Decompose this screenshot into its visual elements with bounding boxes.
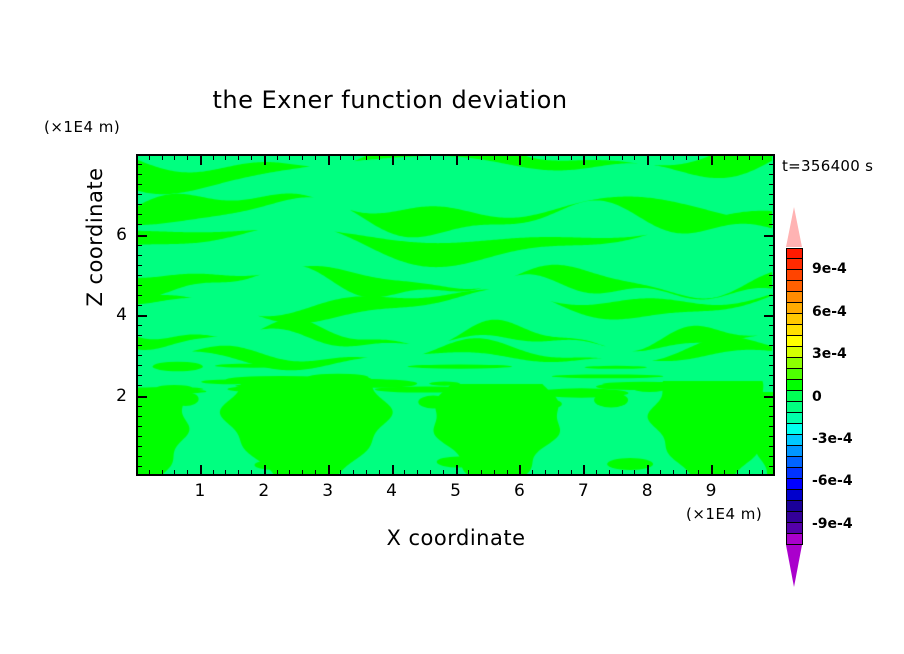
x-tick-minor-bottom [507, 470, 508, 476]
x-tick-minor-bottom [187, 470, 188, 476]
x-tick-minor [596, 154, 597, 160]
x-tick-minor [340, 154, 341, 160]
y-tick-minor [136, 265, 142, 266]
y-tick-minor-right [769, 345, 775, 346]
y-tick-minor [136, 245, 142, 246]
x-tick-minor [353, 154, 354, 160]
y-tick-minor [136, 355, 142, 356]
y-tick-minor [136, 345, 142, 346]
x-tick-major [519, 154, 521, 165]
x-tick-major [583, 154, 585, 165]
x-tick-major-bottom [328, 465, 330, 476]
y-tick-minor [136, 436, 142, 437]
colorbar-band [786, 501, 803, 512]
x-axis-unit-label: (×1E4 m) [686, 505, 762, 523]
colorbar-band [786, 303, 803, 314]
colorbar-band [786, 314, 803, 325]
colorbar-label: -6e-4 [812, 473, 853, 489]
x-axis-title: X coordinate [136, 526, 776, 550]
y-tick-minor-right [769, 245, 775, 246]
x-tick-minor [174, 154, 175, 160]
colorbar-label: 9e-4 [812, 261, 847, 277]
x-tick-label: 9 [699, 481, 723, 501]
x-tick-label: 8 [635, 481, 659, 501]
x-tick-minor [417, 154, 418, 160]
y-tick-major-right [764, 396, 775, 398]
x-tick-major [711, 154, 713, 165]
y-tick-minor-right [769, 265, 775, 266]
x-tick-major-bottom [711, 465, 713, 476]
x-tick-minor-bottom [213, 470, 214, 476]
x-tick-minor-bottom [174, 470, 175, 476]
colorbar-band [786, 523, 803, 534]
y-tick-minor [136, 305, 142, 306]
y-tick-minor-right [769, 365, 775, 366]
y-tick-minor-right [769, 375, 775, 376]
y-tick-minor [136, 275, 142, 276]
x-tick-minor-bottom [277, 470, 278, 476]
y-tick-minor-right [769, 194, 775, 195]
x-tick-major-bottom [392, 465, 394, 476]
x-tick-minor-bottom [724, 470, 725, 476]
x-tick-minor [251, 154, 252, 160]
colorbar-band [786, 402, 803, 413]
x-tick-minor-bottom [634, 470, 635, 476]
x-tick-minor-bottom [340, 470, 341, 476]
x-tick-minor-bottom [762, 470, 763, 476]
y-tick-minor-right [769, 275, 775, 276]
x-tick-minor [315, 154, 316, 160]
y-tick-minor [136, 426, 142, 427]
y-tick-minor [136, 365, 142, 366]
x-tick-minor [187, 154, 188, 160]
x-tick-minor-bottom [302, 470, 303, 476]
x-tick-minor-bottom [149, 470, 150, 476]
y-tick-minor-right [769, 305, 775, 306]
x-tick-major-bottom [519, 465, 521, 476]
y-tick-major-right [764, 235, 775, 237]
x-tick-minor-bottom [545, 470, 546, 476]
y-tick-minor-right [769, 385, 775, 386]
colorbar-band [786, 325, 803, 336]
x-tick-minor-bottom [686, 470, 687, 476]
colorbar-band [786, 281, 803, 292]
y-tick-label: 2 [103, 386, 127, 406]
x-tick-label: 7 [571, 481, 595, 501]
x-tick-minor-bottom [532, 470, 533, 476]
y-tick-minor [136, 325, 142, 326]
x-tick-minor [609, 154, 610, 160]
x-tick-minor-bottom [622, 470, 623, 476]
y-tick-major [136, 396, 147, 398]
timestamp-annotation: t=356400 s [782, 157, 873, 175]
y-tick-minor-right [769, 184, 775, 185]
y-tick-minor-right [769, 174, 775, 175]
x-tick-minor-bottom [481, 470, 482, 476]
y-tick-minor [136, 204, 142, 205]
x-tick-minor-bottom [737, 470, 738, 476]
x-tick-minor-bottom [366, 470, 367, 476]
x-tick-minor-bottom [596, 470, 597, 476]
x-tick-major-bottom [647, 465, 649, 476]
x-tick-minor [494, 154, 495, 160]
x-tick-major [200, 154, 202, 165]
x-tick-major [392, 154, 394, 165]
colorbar-band [786, 270, 803, 281]
contour-field [138, 156, 773, 474]
y-tick-minor-right [769, 456, 775, 457]
x-tick-minor-bottom [660, 470, 661, 476]
colorbar-label: 6e-4 [812, 304, 847, 320]
x-tick-minor-bottom [225, 470, 226, 476]
x-tick-minor [213, 154, 214, 160]
x-tick-minor-bottom [315, 470, 316, 476]
y-tick-major-right [764, 315, 775, 317]
colorbar-label: 3e-4 [812, 346, 847, 362]
x-tick-minor [532, 154, 533, 160]
x-tick-label: 3 [316, 481, 340, 501]
y-tick-minor [136, 375, 142, 376]
x-tick-label: 1 [188, 481, 212, 501]
x-tick-minor-bottom [238, 470, 239, 476]
y-tick-minor [136, 194, 142, 195]
x-tick-label: 2 [252, 481, 276, 501]
colorbar-band [786, 457, 803, 468]
colorbar-band [786, 391, 803, 402]
x-tick-label: 6 [507, 481, 531, 501]
x-tick-minor [686, 154, 687, 160]
colorbar-band [786, 292, 803, 303]
colorbar-band [786, 468, 803, 479]
colorbar [786, 248, 803, 545]
x-tick-minor [430, 154, 431, 160]
y-tick-minor [136, 224, 142, 225]
y-tick-minor-right [769, 224, 775, 225]
page-title: the Exner function deviation [0, 86, 780, 114]
x-tick-major-bottom [264, 465, 266, 476]
y-tick-minor [136, 295, 142, 296]
colorbar-band [786, 435, 803, 446]
x-tick-minor [571, 154, 572, 160]
y-tick-minor-right [769, 406, 775, 407]
y-tick-minor-right [769, 416, 775, 417]
y-tick-major [136, 235, 147, 237]
x-tick-minor-bottom [494, 470, 495, 476]
x-tick-minor [404, 154, 405, 160]
y-tick-minor-right [769, 295, 775, 296]
y-tick-major [136, 315, 147, 317]
y-tick-minor [136, 184, 142, 185]
x-tick-minor [749, 154, 750, 160]
colorbar-label: -3e-4 [812, 431, 853, 447]
colorbar-label: 0 [812, 389, 822, 405]
x-tick-minor [238, 154, 239, 160]
x-tick-minor-bottom [609, 470, 610, 476]
x-tick-minor [660, 154, 661, 160]
x-tick-minor-bottom [353, 470, 354, 476]
x-tick-minor [225, 154, 226, 160]
y-tick-minor-right [769, 436, 775, 437]
colorbar-band [786, 248, 803, 259]
x-tick-minor-bottom [162, 470, 163, 476]
colorbar-band [786, 446, 803, 457]
x-tick-minor [698, 154, 699, 160]
x-tick-minor-bottom [404, 470, 405, 476]
contour-plot-area [136, 154, 775, 476]
y-tick-label: 4 [103, 305, 127, 325]
x-tick-minor [634, 154, 635, 160]
x-tick-minor [162, 154, 163, 160]
x-tick-minor [673, 154, 674, 160]
x-tick-label: 5 [444, 481, 468, 501]
colorbar-band [786, 358, 803, 369]
x-tick-minor [622, 154, 623, 160]
x-tick-minor [289, 154, 290, 160]
x-tick-minor [366, 154, 367, 160]
y-tick-minor [136, 255, 142, 256]
x-tick-minor [558, 154, 559, 160]
colorbar-band [786, 512, 803, 523]
y-tick-minor [136, 385, 142, 386]
y-tick-minor [136, 466, 142, 467]
y-tick-minor-right [769, 335, 775, 336]
y-tick-minor-right [769, 214, 775, 215]
y-tick-minor [136, 335, 142, 336]
y-tick-minor [136, 164, 142, 165]
x-tick-major [328, 154, 330, 165]
y-tick-minor [136, 416, 142, 417]
colorbar-arrow-bottom [786, 545, 802, 587]
x-tick-major-bottom [456, 465, 458, 476]
colorbar-band [786, 424, 803, 435]
y-tick-minor [136, 456, 142, 457]
x-tick-major-bottom [583, 465, 585, 476]
colorbar-band [786, 347, 803, 358]
y-tick-minor-right [769, 446, 775, 447]
y-tick-minor [136, 406, 142, 407]
y-tick-minor [136, 285, 142, 286]
x-tick-minor-bottom [289, 470, 290, 476]
y-tick-minor-right [769, 466, 775, 467]
y-tick-minor-right [769, 204, 775, 205]
colorbar-band [786, 490, 803, 501]
x-tick-minor [149, 154, 150, 160]
x-tick-major [647, 154, 649, 165]
x-tick-major [264, 154, 266, 165]
x-tick-minor-bottom [430, 470, 431, 476]
y-tick-minor-right [769, 164, 775, 165]
x-tick-minor [507, 154, 508, 160]
x-tick-minor-bottom [558, 470, 559, 476]
y-tick-minor-right [769, 355, 775, 356]
y-tick-minor [136, 446, 142, 447]
y-tick-label: 6 [103, 225, 127, 245]
x-tick-minor [724, 154, 725, 160]
x-tick-minor [481, 154, 482, 160]
y-tick-minor-right [769, 255, 775, 256]
colorbar-band [786, 534, 803, 545]
y-tick-minor-right [769, 426, 775, 427]
x-tick-label: 4 [380, 481, 404, 501]
x-tick-minor-bottom [251, 470, 252, 476]
x-tick-minor [468, 154, 469, 160]
x-tick-major-bottom [200, 465, 202, 476]
x-tick-minor-bottom [571, 470, 572, 476]
colorbar-label: -9e-4 [812, 516, 853, 532]
colorbar-band [786, 336, 803, 347]
x-tick-minor [762, 154, 763, 160]
x-tick-minor [737, 154, 738, 160]
colorbar-band [786, 413, 803, 424]
y-tick-minor [136, 214, 142, 215]
x-tick-minor [379, 154, 380, 160]
y-tick-minor [136, 174, 142, 175]
x-tick-minor-bottom [749, 470, 750, 476]
colorbar-band [786, 369, 803, 380]
x-tick-minor [443, 154, 444, 160]
colorbar-band [786, 259, 803, 270]
x-tick-minor-bottom [468, 470, 469, 476]
x-tick-minor-bottom [673, 470, 674, 476]
x-tick-minor-bottom [443, 470, 444, 476]
x-tick-minor-bottom [417, 470, 418, 476]
colorbar-band [786, 380, 803, 391]
colorbar-band [786, 479, 803, 490]
y-tick-minor-right [769, 325, 775, 326]
x-tick-minor-bottom [379, 470, 380, 476]
x-tick-minor-bottom [698, 470, 699, 476]
x-tick-minor [302, 154, 303, 160]
x-tick-major [456, 154, 458, 165]
x-tick-minor [545, 154, 546, 160]
y-tick-minor-right [769, 285, 775, 286]
x-tick-minor [277, 154, 278, 160]
colorbar-arrow-top [786, 207, 802, 247]
